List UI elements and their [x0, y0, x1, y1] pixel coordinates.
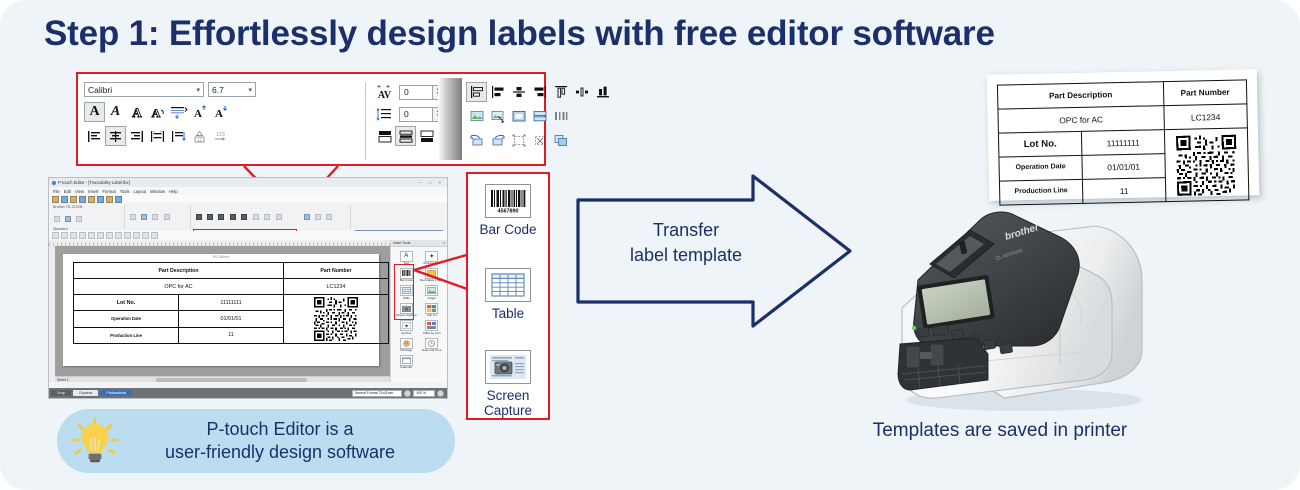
label-table[interactable]: Part Description Part Number OPC for AC … [73, 262, 389, 344]
auto-fit-icon[interactable]: 12 [189, 126, 210, 146]
qat-icon[interactable] [52, 196, 59, 203]
font-name-value: Calibri [88, 85, 112, 95]
draw-tool-icon[interactable] [61, 232, 68, 239]
arrow-text: Transfer label template [606, 218, 766, 268]
align-right-icon[interactable] [126, 126, 147, 146]
ribbon-icon[interactable] [152, 214, 158, 220]
svg-text:A: A [151, 106, 160, 119]
align-objects-left-icon[interactable] [466, 82, 487, 102]
svg-text:12: 12 [197, 137, 202, 142]
feature-table[interactable]: Table [468, 268, 548, 321]
table-row: Lot No. 11111111 [998, 128, 1247, 157]
qr-code-icon [1176, 134, 1237, 195]
horizontal-scrollbar[interactable] [55, 376, 391, 382]
svg-text:★: ★ [404, 324, 409, 330]
group-icon[interactable] [550, 106, 571, 126]
tip-pill: P-touch Editor is a user-friendly design… [57, 409, 455, 473]
datetime-tool-icon [425, 338, 438, 349]
power-led-icon [912, 326, 916, 330]
align-justify-icon[interactable] [147, 126, 168, 146]
ptouch-editor-screenshot: P-touch Editor - [Traceability Label.lbx… [48, 177, 448, 399]
ribbon-icon[interactable] [65, 216, 71, 222]
frame-icon[interactable] [508, 106, 529, 126]
symbol-tool-icon: ★ [400, 320, 413, 331]
tool-label: Table As Icon [423, 332, 441, 335]
arrange-row-2 [466, 106, 613, 126]
font-size-combo[interactable]: 6.7 ▾ [208, 82, 256, 97]
tip-line-2: user-friendly design software [119, 441, 441, 464]
ribbon-icon[interactable] [218, 214, 224, 220]
bold-icon[interactable]: A [84, 102, 105, 122]
deselect-icon[interactable] [529, 130, 550, 150]
number-format-icon[interactable]: 123 [210, 126, 231, 146]
shrink-font-icon[interactable]: A [210, 102, 231, 122]
ribbon-icon[interactable] [141, 214, 147, 220]
svg-text:A: A [132, 105, 142, 119]
distribute-vertical-icon[interactable] [592, 82, 613, 102]
draw-tool-icon[interactable] [151, 232, 158, 239]
menu-file[interactable]: File [53, 189, 60, 194]
insert-tool-image[interactable]: Image [420, 284, 445, 300]
feed-button [932, 325, 948, 336]
paper-select[interactable]: Normal Format 72x41mm [352, 390, 402, 397]
screen-capture-icon [485, 350, 531, 384]
draw-tool-icon[interactable] [97, 232, 104, 239]
clipart-tool-icon [425, 303, 438, 314]
qat-icon[interactable] [97, 196, 104, 203]
font-name-combo[interactable]: Calibri ▾ [84, 82, 204, 97]
distribute-horizontal-icon[interactable] [571, 82, 592, 102]
label-value-production-line: 11 [179, 327, 284, 343]
ribbon-icon[interactable] [326, 214, 332, 220]
font-size-group: 6.7 ▾ [208, 82, 256, 97]
tip-line-1: P-touch Editor is a [119, 418, 441, 441]
draw-tool-icon[interactable] [106, 232, 113, 239]
menu-insert[interactable]: Insert [88, 189, 98, 194]
text-tool-icon: A [400, 251, 413, 262]
align-objects-middle-icon[interactable] [508, 82, 529, 102]
align-left-icon[interactable] [84, 126, 105, 146]
barcode-glyph: 4567890 [489, 188, 527, 214]
label-value-part-number: LC1234 [284, 279, 389, 295]
split-icon[interactable] [529, 106, 550, 126]
insert-panel-header: Insert Tools × [391, 240, 447, 247]
align-objects-center-icon[interactable] [487, 82, 508, 102]
tool-label: Date and Time [422, 349, 442, 352]
draw-tool-icon[interactable] [52, 232, 59, 239]
ribbon-icon[interactable] [54, 216, 60, 222]
ribbon-icon[interactable] [276, 214, 282, 220]
arrow-line-1: Transfer [606, 218, 766, 243]
label-header-part-number: Part Number [284, 263, 389, 279]
feature-label-screen-capture: Screen Capture [468, 388, 548, 418]
select-all-icon[interactable] [508, 130, 529, 150]
draw-tool-icon[interactable] [115, 232, 122, 239]
status-tab-express[interactable]: Express [73, 390, 98, 396]
svg-text:AV: AV [378, 90, 392, 100]
rotate-left-icon[interactable] [466, 130, 487, 150]
feature-screen-capture[interactable]: Screen Capture [468, 350, 548, 418]
insert-tool-decorative-frame[interactable]: Decorative Frame [420, 266, 445, 282]
printed-key-lot-no: Lot No. [998, 131, 1081, 157]
label-header-part-description: Part Description [74, 263, 284, 279]
feature-label-barcode: Bar Code [479, 222, 536, 237]
font-size-value: 6.7 [212, 85, 224, 95]
insert-tool-symbol[interactable]: ★Symbol [394, 319, 419, 335]
insert-tool-calendar[interactable]: Calendar [394, 353, 419, 369]
barcode-icon: 4567890 [485, 184, 531, 218]
draw-tool-icon[interactable] [142, 232, 149, 239]
chevron-down-icon: ▾ [248, 86, 252, 94]
app-icon [52, 181, 56, 185]
statusbar-right: Normal Format 72x41mm 400 % [352, 390, 444, 397]
menu-view[interactable]: View [75, 189, 84, 194]
lightbulb-icon [71, 417, 119, 465]
printed-value-part-description: OPC for AC [998, 106, 1164, 133]
line-spacing-group: 0 ▲▼ [374, 104, 445, 124]
toolbar-callout-panel: Calibri ▾ 6.7 ▾ A A A A A [76, 72, 546, 166]
menu-window[interactable]: Window [150, 189, 165, 194]
draw-tool-icon[interactable] [133, 232, 140, 239]
insert-tool-clip-art[interactable]: Clip Art [420, 301, 445, 317]
power-button [917, 327, 929, 338]
image-icon[interactable] [466, 106, 487, 126]
qat-icon[interactable] [61, 196, 68, 203]
ribbon-icon[interactable] [207, 214, 213, 220]
draw-tool-icon[interactable] [124, 232, 131, 239]
italic-icon[interactable]: A [105, 102, 126, 122]
printer-caption: Templates are saved in printer [855, 420, 1145, 442]
page-title: Step 1: Effortlessly design labels with … [44, 14, 995, 54]
window-controls[interactable]: – □ × [419, 180, 444, 185]
ok-button [999, 343, 1012, 354]
rotate-right-icon[interactable] [487, 130, 508, 150]
tool-label: Decorative Frame [420, 279, 444, 282]
printer-illustration: brother QL-820NWB [884, 168, 1174, 412]
sheet-tab[interactable]: Sheet 1 [57, 378, 69, 382]
table-alt-tool-icon [425, 320, 438, 331]
roll-guide-right [930, 344, 944, 366]
toolbar-divider [365, 82, 366, 160]
draw-tool-icon[interactable] [70, 232, 77, 239]
printed-value-part-number: LC1234 [1164, 104, 1247, 130]
svg-text:123: 123 [216, 132, 225, 138]
printed-value-lot-no: 11111111 [1081, 130, 1164, 156]
transfer-arrow: Transfer label template [572, 170, 856, 332]
kerning-icon[interactable]: AV [374, 82, 395, 102]
table-row: OPC for AC LC1234 [74, 279, 389, 295]
shadow-icon[interactable]: A [147, 102, 168, 122]
label-value-operation-date: 01/01/01 [179, 311, 284, 327]
ribbon-icon[interactable] [264, 214, 270, 220]
grow-font-icon[interactable]: A [189, 102, 210, 122]
label-printer: brother QL-820NWB [884, 168, 1174, 412]
frame-tool-icon [425, 268, 438, 279]
editor-statusbar: Snap Express Professional Normal Format … [49, 388, 447, 398]
qat-icon[interactable] [70, 196, 77, 203]
ribbon-icon[interactable] [315, 214, 321, 220]
ribbon-icon[interactable] [241, 214, 247, 220]
montage-tool-icon [400, 338, 413, 349]
arrange-row-3 [466, 130, 571, 150]
close-icon[interactable]: × [443, 241, 445, 245]
ribbon-icon[interactable] [196, 214, 202, 220]
draw-tool-icon[interactable] [88, 232, 95, 239]
insert-tool-table-alt[interactable]: Table As Icon [420, 319, 445, 335]
infographic-canvas: Step 1: Effortlessly design labels with … [0, 0, 1300, 490]
barcode-digits: 4567890 [498, 209, 519, 215]
roll-guide-left [906, 346, 920, 368]
ribbon-icon[interactable] [164, 214, 170, 220]
label-value-part-description: OPC for AC [74, 279, 284, 295]
status-tab-professional[interactable]: Professional [100, 390, 132, 396]
editor-window-title: P-touch Editor - [Traceability Label.lbx… [58, 180, 130, 185]
label-key-lot-no: Lot No. [74, 295, 179, 311]
label-qr-cell [284, 295, 389, 344]
roll-spindle [920, 352, 932, 359]
tool-label: Symbol [401, 332, 411, 335]
insert-tools-highlight [394, 264, 414, 320]
tip-text: P-touch Editor is a user-friendly design… [119, 418, 455, 464]
font-style-row: A A A A A A [84, 102, 231, 122]
text-direction-icon[interactable] [168, 102, 189, 122]
table-row: Part Description Part Number [74, 263, 389, 279]
features-callout-panel: 4567890 Bar Code Table [466, 172, 550, 420]
zoom-in-icon[interactable] [437, 390, 444, 397]
valign-middle-icon[interactable] [395, 126, 416, 146]
align-objects-right-icon[interactable] [529, 82, 550, 102]
ribbon-icon[interactable] [230, 214, 236, 220]
tool-label: Arrange Text [423, 262, 440, 265]
vertical-text-icon[interactable] [168, 126, 189, 146]
ribbon-icon[interactable] [130, 214, 136, 220]
tool-label: Clip Art [427, 314, 437, 317]
ribbon-group-text [193, 205, 297, 229]
feature-barcode[interactable]: 4567890 Bar Code [468, 184, 548, 237]
printed-header-part-description: Part Description [997, 82, 1163, 109]
qat-icon[interactable] [106, 196, 113, 203]
printed-header-part-number: Part Number [1163, 80, 1246, 106]
align-top-icon[interactable] [550, 82, 571, 102]
arrange-row-1 [466, 82, 613, 102]
tool-label: Calendar [400, 366, 412, 369]
chevron-down-icon: ▾ [196, 86, 200, 94]
qat-icon[interactable] [115, 196, 122, 203]
insert-panel-title: Insert Tools [393, 241, 410, 245]
outline-icon[interactable]: A [126, 102, 147, 122]
label-page[interactable]: RD 58mm Part Description Part Number OPC… [63, 254, 379, 366]
ribbon-icon[interactable] [304, 214, 310, 220]
status-tab-snap[interactable]: Snap [51, 390, 71, 396]
line-spacing-value: 0 [404, 109, 409, 119]
calendar-tool-icon [400, 355, 413, 366]
menu-help[interactable]: Help [169, 189, 178, 194]
qat-icon[interactable] [88, 196, 95, 203]
editor-canvas[interactable]: RD 58mm Part Description Part Number OPC… [55, 246, 391, 382]
zoom-out-icon[interactable] [404, 390, 411, 397]
scrollbar-thumb[interactable] [156, 378, 307, 382]
align-center-icon[interactable] [105, 126, 126, 146]
menu-layout[interactable]: Layout [134, 189, 147, 194]
page-size-label: RD 58mm [63, 254, 379, 259]
table-glyph [491, 273, 525, 297]
label-value-lot-no: 11111111 [179, 295, 284, 311]
ribbon-group-printer: Brother TD-2130N Standard [51, 205, 125, 229]
line-spacing-icon[interactable] [374, 104, 395, 124]
screen-capture-glyph [489, 354, 527, 380]
arrow-line-2: label template [606, 243, 766, 268]
label-key-operation-date: Operation Date [74, 311, 179, 327]
table-icon [485, 268, 531, 302]
ribbon-icon[interactable] [253, 214, 259, 220]
down-button [983, 339, 995, 350]
menu-format[interactable]: Format [102, 189, 115, 194]
feature-label-table: Table [492, 306, 524, 321]
zoom-value[interactable]: 400 % [413, 390, 435, 397]
svg-text:A: A [215, 108, 223, 119]
ribbon-group-paper [127, 205, 191, 229]
image-tool-icon [425, 285, 438, 296]
menu-edit[interactable]: Edit [64, 189, 71, 194]
kerning-value: 0 [404, 87, 409, 97]
svg-text:A: A [194, 108, 202, 119]
insert-tools-panel: Insert Tools × AText ✦Arrange Text Bar C… [390, 240, 447, 382]
qat-icon[interactable] [79, 196, 86, 203]
insert-tool-text[interactable]: AText [394, 249, 419, 265]
tool-label: Montage [400, 349, 412, 352]
menu-tools[interactable]: Tools [120, 189, 130, 194]
qr-code-icon [314, 297, 358, 341]
insert-tool-arrange-text[interactable]: ✦Arrange Text [420, 249, 445, 265]
tool-label: Image [428, 297, 436, 300]
arrange-text-icon: ✦ [425, 251, 438, 262]
image-select-icon[interactable] [487, 106, 508, 126]
valign-top-icon[interactable] [374, 126, 395, 146]
draw-tool-icon[interactable] [79, 232, 86, 239]
table-row: Lot No. 11111111 [74, 295, 389, 311]
paragraph-align-row: 12 123 [84, 126, 231, 146]
insert-tool-montage[interactable]: Montage [394, 336, 419, 352]
label-key-production-line: Production Line [74, 327, 179, 343]
insert-tool-datetime[interactable]: Date and Time [420, 336, 445, 352]
printed-qr-cell [1164, 128, 1248, 202]
toolbar-shade-divider [438, 78, 462, 160]
ribbon-icon[interactable] [76, 216, 82, 222]
editor-ribbon: Brother TD-2130N Standard [49, 203, 447, 232]
valign-bottom-icon[interactable] [416, 126, 437, 146]
ribbon-group-layout [301, 205, 351, 229]
cut-button [951, 329, 963, 340]
order-icon[interactable] [550, 130, 571, 150]
kerning-group: AV 0 ▲▼ [374, 82, 445, 102]
